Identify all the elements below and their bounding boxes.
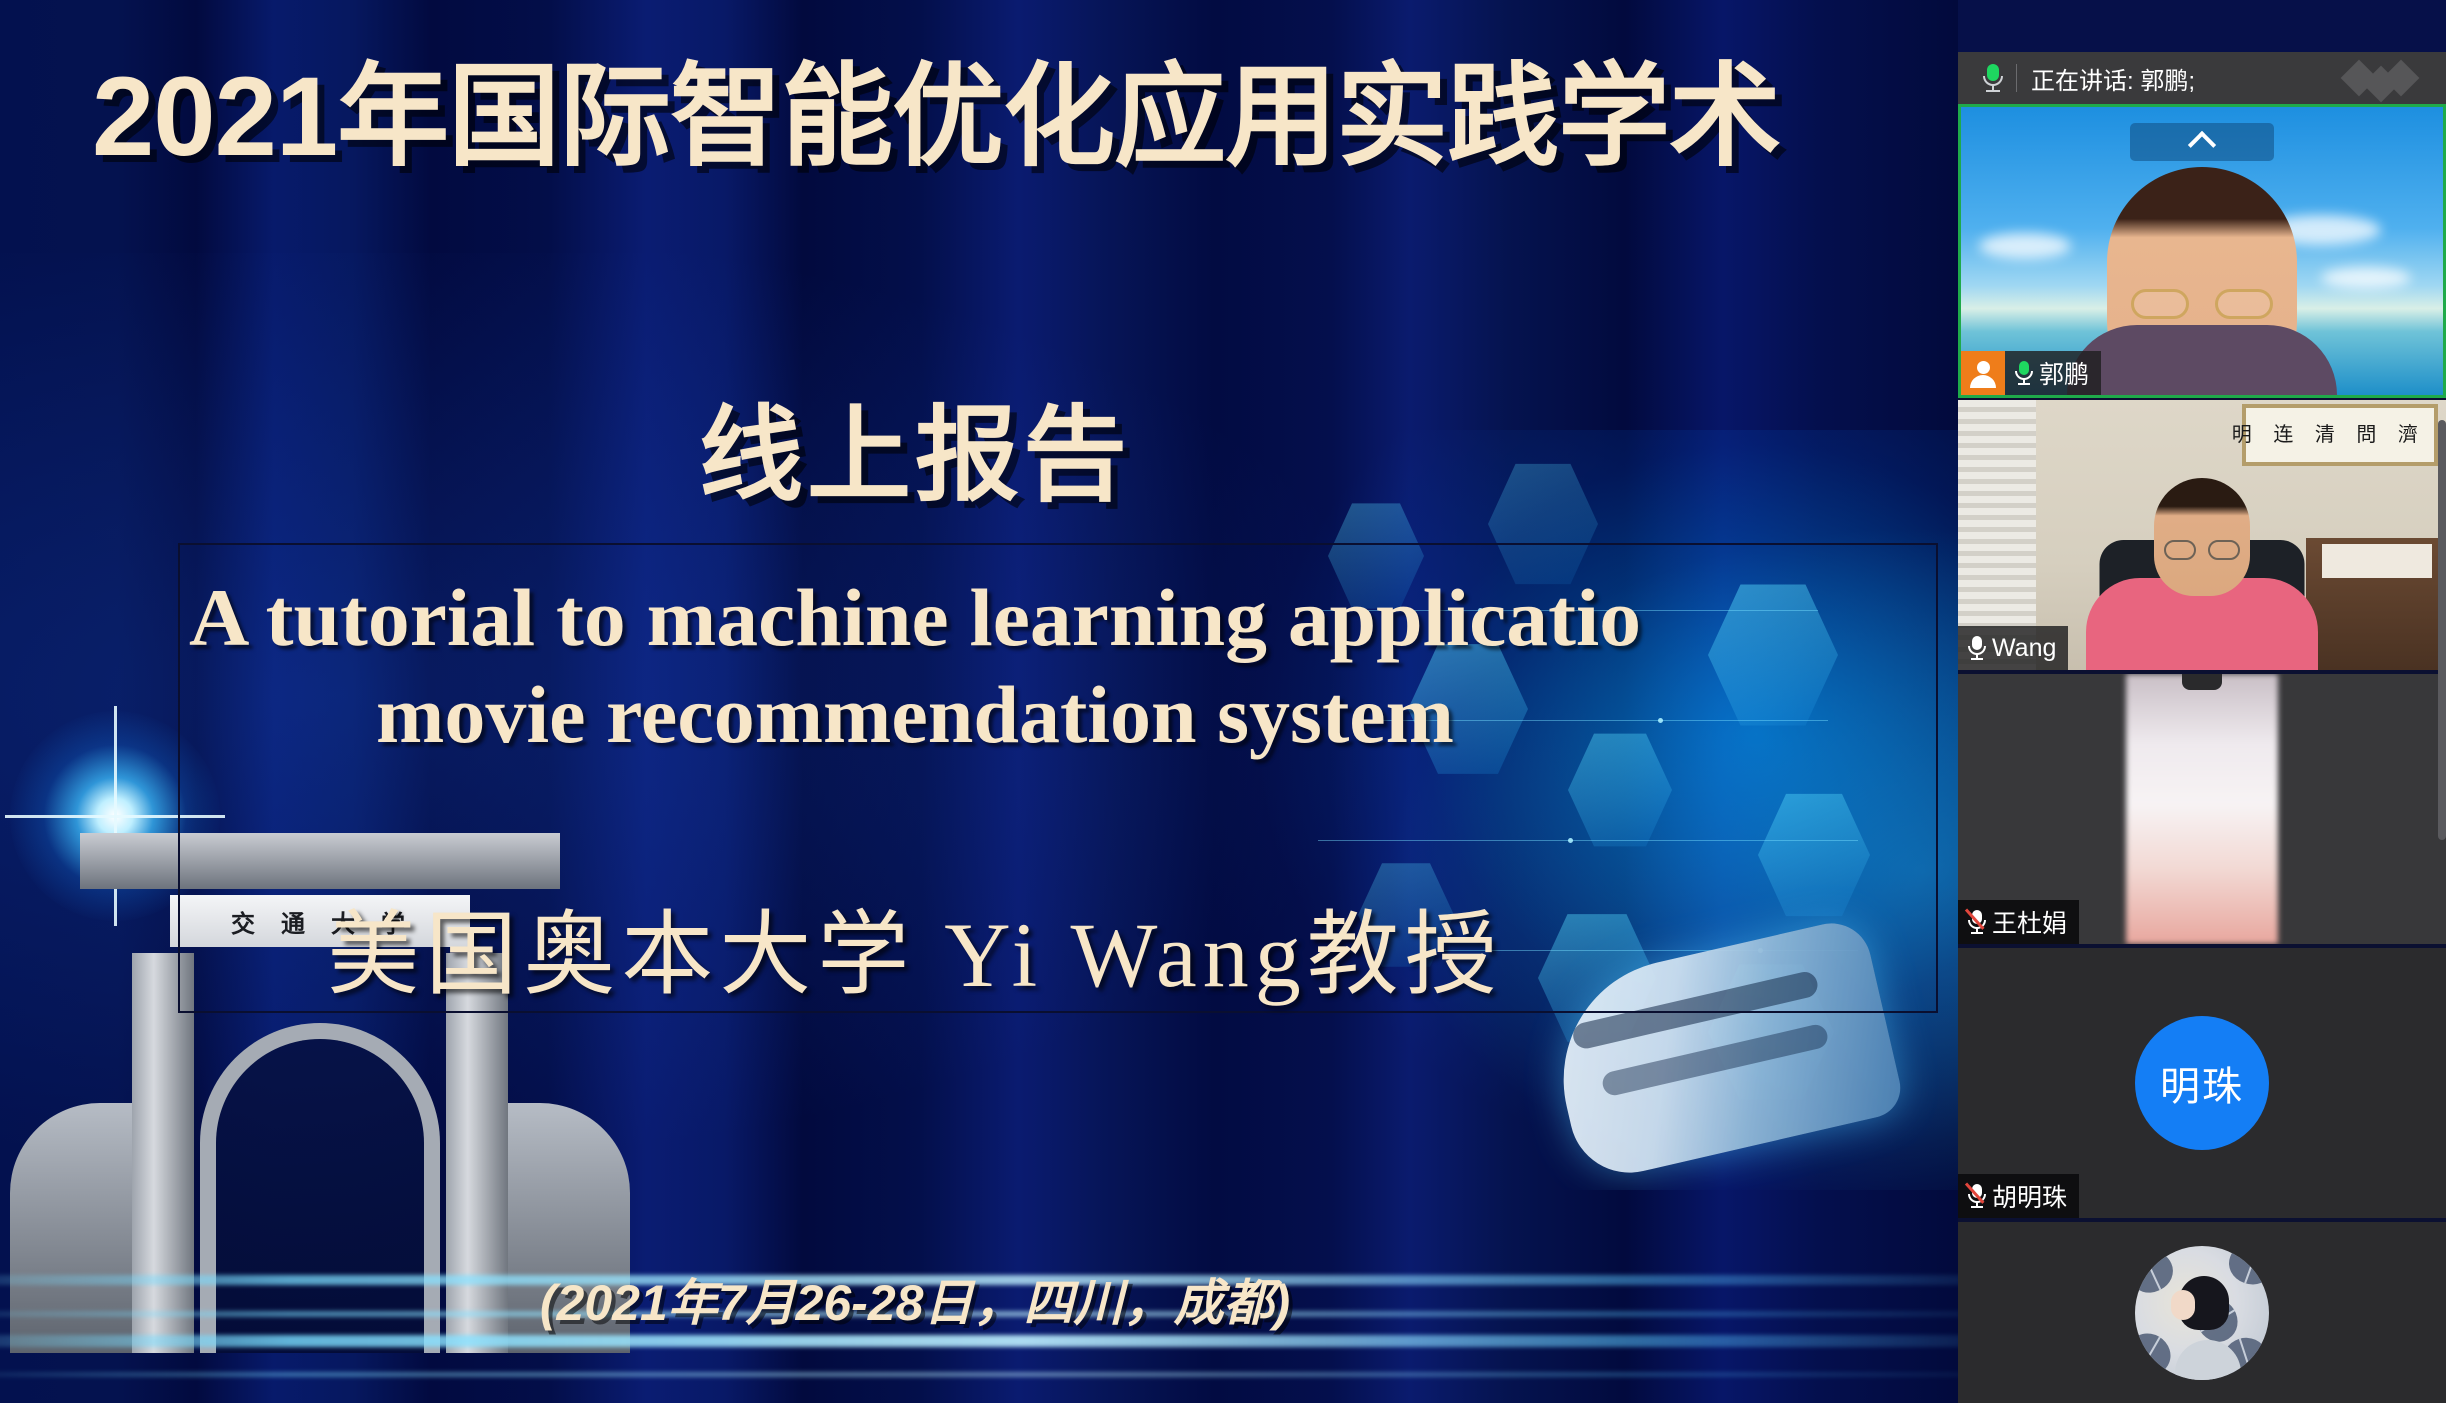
- slide-date-location: (2021年7月26-28日，四川，成都): [0, 1263, 1830, 1335]
- participant-name: 郭鹏: [2039, 355, 2089, 391]
- avatar: 明珠: [2135, 1016, 2269, 1150]
- divider: [2016, 64, 2017, 92]
- person-host-icon: [1961, 351, 2005, 395]
- slide-presenter: 美国奥本大学 Yi Wang教授: [0, 880, 1830, 1013]
- slide-english-title: A tutorial to machine learning applicati…: [0, 570, 1830, 764]
- english-title-line-1: A tutorial to machine learning applicati…: [0, 570, 1848, 667]
- calligraphy-scroll: 明 连 清 問 濟: [2242, 404, 2438, 466]
- meeting-screen-share-view: 交 通 大 学 2021年国际智能优化应用实践学术 线上报告: [0, 0, 2446, 1403]
- shared-slide[interactable]: 交 通 大 学 2021年国际智能优化应用实践学术 线上报告: [0, 0, 1958, 1403]
- participant-tile-wangdujuan[interactable]: 王杜娟: [1958, 674, 2446, 944]
- participant-face: [2154, 478, 2250, 596]
- microphone-icon: [1968, 635, 1986, 661]
- active-speaker-label: 正在讲话: 郭鹏;: [2031, 61, 2195, 96]
- panel-top-gap: [1958, 0, 2446, 52]
- glasses-icon: [2131, 289, 2273, 319]
- microphone-active-icon: [1982, 63, 2004, 93]
- participant-tile-humingzhu[interactable]: 明珠 胡明珠: [1958, 948, 2446, 1218]
- participant-tile-guopeng[interactable]: 郭鹏: [1958, 104, 2446, 398]
- avatar: [2135, 1246, 2269, 1380]
- participant-nameplate: 郭鹏: [1961, 351, 2101, 395]
- brand-mark-icon: [2346, 63, 2414, 93]
- slide-subtitle: 线上报告: [0, 370, 1830, 521]
- participant-name: Wang: [1992, 634, 2056, 663]
- english-title-line-2: movie recommendation system: [0, 667, 1830, 764]
- microphone-active-icon: [2015, 360, 2033, 386]
- participant-tile-wang[interactable]: 明 连 清 問 濟 Wang: [1958, 400, 2446, 670]
- chevron-up-icon: [2188, 131, 2216, 159]
- participant-nameplate: 胡明珠: [1958, 1174, 2079, 1218]
- participant-tile-photo-avatar[interactable]: [1958, 1222, 2446, 1403]
- microphone-muted-icon: [1968, 909, 1986, 935]
- vertical-scrollbar[interactable]: [2438, 420, 2446, 840]
- glasses-icon: [2164, 540, 2240, 560]
- active-speaker-bar: 正在讲话: 郭鹏;: [1958, 52, 2446, 104]
- collapse-panel-button[interactable]: [2130, 123, 2274, 161]
- participant-nameplate: Wang: [1958, 626, 2068, 670]
- participant-panel: 正在讲话: 郭鹏;: [1958, 0, 2446, 1403]
- scroll-inscription: 明 连 清 問 濟: [2232, 418, 2426, 447]
- participant-name: 胡明珠: [1992, 1178, 2067, 1214]
- participant-name: 王杜娟: [1992, 904, 2067, 940]
- slide-title: 2021年国际智能优化应用实践学术: [92, 55, 1958, 178]
- microphone-muted-icon: [1968, 1183, 1986, 1209]
- participant-nameplate: 王杜娟: [1958, 900, 2079, 944]
